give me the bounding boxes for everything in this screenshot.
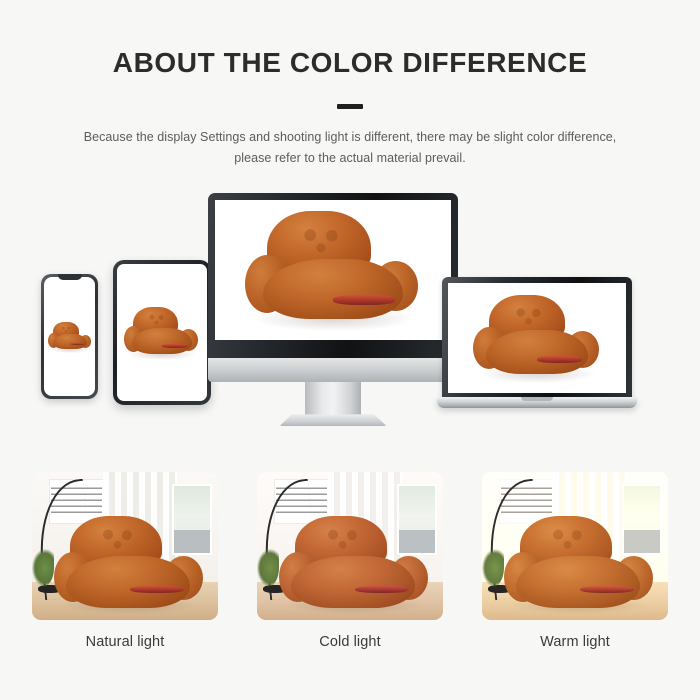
product-image-monitor — [215, 200, 451, 340]
tablet-screen — [117, 264, 207, 401]
product-image-room — [268, 513, 439, 614]
lighting-sample-label: Warm light — [482, 634, 668, 650]
phone-screen — [44, 277, 95, 396]
monitor-chin — [208, 358, 458, 382]
room-scene — [482, 472, 668, 620]
device-mockup-row — [0, 182, 700, 432]
lighting-sample-card: Natural light — [32, 472, 218, 650]
laptop-trackpad-notch-icon — [521, 397, 553, 401]
lighting-sample-card: Cold light — [257, 472, 443, 650]
product-image-tablet — [117, 264, 207, 401]
page-subtitle: Because the display Settings and shootin… — [69, 127, 631, 171]
monitor-stand-neck — [305, 382, 361, 416]
tablet-mockup — [113, 260, 211, 405]
monitor-screen — [215, 200, 451, 340]
monitor-stand-foot — [279, 414, 387, 426]
laptop-base — [437, 397, 637, 408]
lighting-sample-photo-warm — [482, 472, 668, 620]
lighting-sample-label: Natural light — [32, 634, 218, 650]
laptop-screen — [448, 283, 626, 393]
lighting-sample-label: Cold light — [257, 634, 443, 650]
product-image-laptop — [448, 283, 626, 393]
phone-mockup — [41, 274, 98, 399]
monitor-mockup — [208, 193, 458, 373]
phone-notch-icon — [58, 274, 82, 280]
laptop-mockup — [437, 277, 637, 407]
laptop-lid — [442, 277, 632, 399]
room-scene — [32, 472, 218, 620]
lighting-sample-card: Warm light — [482, 472, 668, 650]
product-image-phone — [44, 277, 95, 396]
lighting-sample-photo-cold — [257, 472, 443, 620]
divider-dash-icon — [337, 104, 363, 109]
title-divider — [0, 104, 700, 109]
product-image-room — [43, 513, 214, 614]
lighting-sample-row: Natural light — [0, 472, 700, 650]
room-scene — [257, 472, 443, 620]
lighting-sample-photo-natural — [32, 472, 218, 620]
page-title: ABOUT THE COLOR DIFFERENCE — [0, 46, 700, 80]
product-image-room — [493, 513, 664, 614]
monitor-bezel — [208, 193, 458, 358]
page-header: ABOUT THE COLOR DIFFERENCE Because the d… — [0, 0, 700, 170]
